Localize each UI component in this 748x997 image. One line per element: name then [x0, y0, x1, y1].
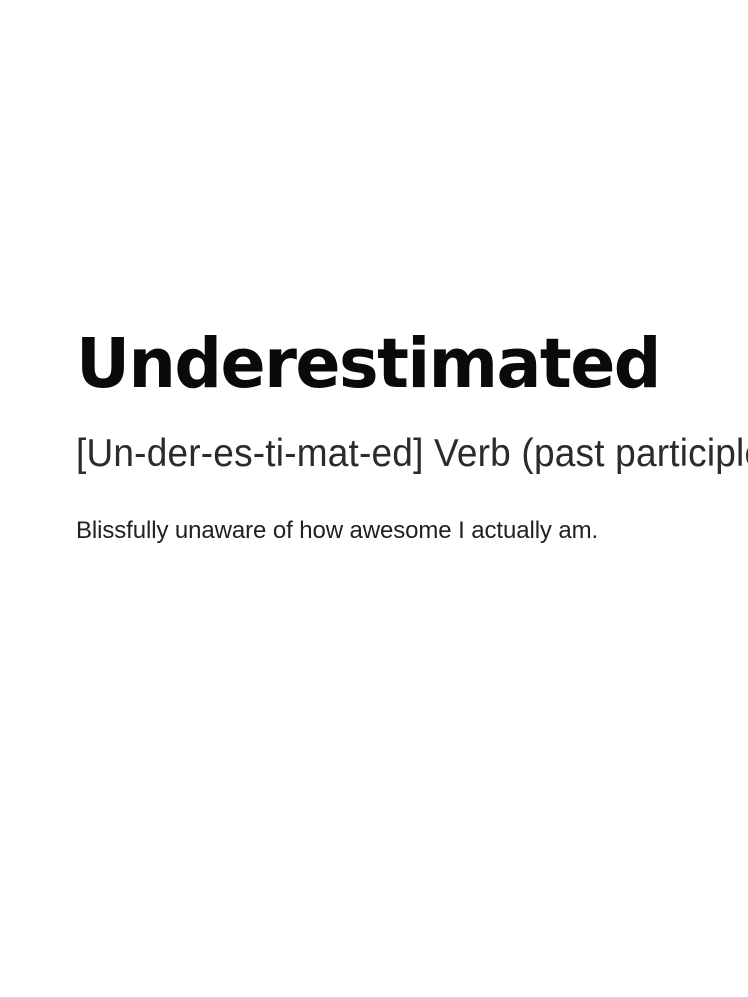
word-title: Underestimated: [76, 330, 724, 399]
definition-block: Underestimated [Un-der-es-ti-mat-ed] Ver…: [76, 330, 748, 570]
pronunciation-and-part-of-speech: [Un-der-es-ti-mat-ed] Verb (past partici…: [76, 434, 748, 472]
definition-poster: Underestimated [Un-der-es-ti-mat-ed] Ver…: [0, 0, 748, 997]
pronunciation-row: [Un-der-es-ti-mat-ed] Verb (past partici…: [76, 435, 748, 472]
meaning-text: Blissfully unaware of how awesome I actu…: [76, 516, 748, 546]
